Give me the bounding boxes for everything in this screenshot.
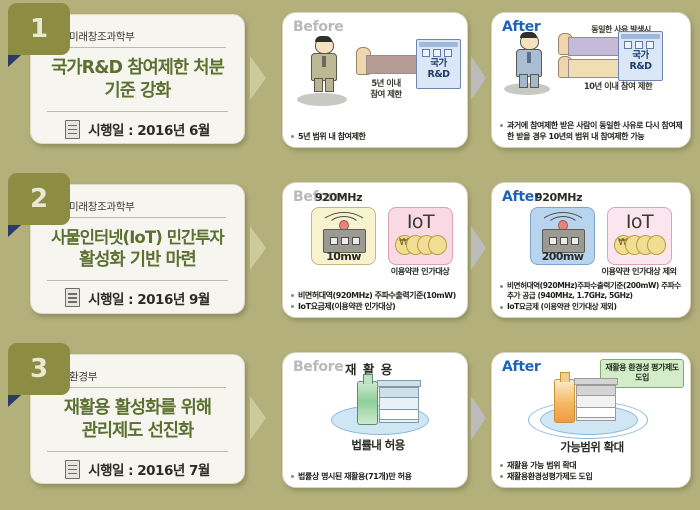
rnd-box-cap [621, 34, 660, 39]
plastic-bottle-icon [554, 379, 575, 423]
bullet-item: 비면허대역(920MHz)주파수출력기준(200mW) 주파수 추가 공급 (9… [499, 281, 685, 302]
document-icon [65, 120, 80, 139]
number-badge-2: 2 [8, 173, 70, 225]
policy-row-3: 3 환경부 재활용 활성화를 위해 관리제도 선진화 시행일 : 2016년 7… [0, 340, 700, 510]
effective-date-row-2: 시행일 : 2016년 9월 [41, 288, 234, 308]
before-caption-3: 법률내 허용 [328, 437, 428, 453]
effective-date-row-1: 시행일 : 2016년 6월 [41, 119, 234, 139]
can-band-bottom-icon [380, 409, 418, 420]
person-tie-icon [322, 56, 326, 67]
plastic-bottle-icon [357, 381, 378, 425]
bullet-item: 재활용환경성평가제도 도입 [499, 471, 685, 482]
rnd-box-line1: 국가 [632, 50, 648, 61]
title-divider-bottom-2 [47, 280, 228, 281]
after-bullets-2: 비면허대역(920MHz)주파수출력기준(200mW) 주파수 추가 공급 (9… [499, 281, 685, 312]
before-caption-line2-1: 참여 제한 [370, 89, 401, 99]
router-led-3 [352, 237, 360, 245]
person-leg-left-icon [314, 78, 323, 92]
before-illustration-1: 국가 R&D 5년 이내 참여 제한 [283, 33, 467, 115]
number-badge-1: 1 [8, 3, 70, 55]
chevron-right-icon-grey-1 [471, 56, 486, 100]
person-leg-right-icon [530, 74, 539, 88]
can-lid-icon [574, 378, 618, 385]
router-led-1 [330, 237, 338, 245]
policy-title-1: 국가R&D 참여제한 처분 기준 강화 [41, 57, 234, 103]
before-bullets-1: 5년 범위 내 참여제한 [290, 131, 462, 142]
router-icon-box-after: 200mw [530, 207, 595, 265]
before-caption-line1-1: 5년 이내 [371, 78, 400, 88]
effective-date-3: 시행일 : 2016년 7월 [88, 459, 210, 479]
bullet-item: 5년 범위 내 참여제한 [290, 131, 462, 142]
policy-title-line1-1: 국가R&D 참여제한 처분 [41, 57, 234, 80]
rnd-box-line2: R&D [428, 69, 450, 80]
power-label-after-2: 200mw [531, 250, 594, 263]
before-panel-3[interactable]: Before 재 활 용 법률내 허용 법률상 명시된 재활용(71개)만 허용 [282, 352, 468, 488]
chevron-right-icon-olive-1 [250, 56, 266, 100]
router-icon-box-before: 10mw [311, 207, 376, 265]
iot-sub-after-2: 이용약관 인가대상 제외 [584, 265, 691, 277]
restriction-bar-upper [568, 37, 622, 56]
after-illustration-3: 재활용 환경성 평가제도 도입 가능범위 확대 [492, 357, 690, 457]
restriction-bar [366, 55, 420, 74]
after-panel-3[interactable]: After 재활용 환경성 평가제도 도입 가능범위 확대 재활용 가능 범위 … [491, 352, 691, 488]
person-shadow [297, 93, 347, 106]
before-panel-1[interactable]: Before 국가 R&D [282, 12, 468, 148]
policy-row-2: 2 미래창조과학부 사물인터넷(IoT) 민간투자 활성화 기반 마련 시행일 … [0, 170, 700, 340]
person-leg-left-icon [519, 74, 528, 88]
can-band-top-icon [380, 387, 418, 398]
rnd-box-dots [624, 41, 654, 49]
after-caption-bottom-1: 10년 이내 참여 제한 [558, 81, 678, 92]
power-label-before-2: 10mw [312, 250, 375, 263]
rnd-box-line2: R&D [630, 61, 652, 72]
router-led-2 [560, 237, 568, 245]
bullet-item: IoT요금제(이용약관 인가대상) [290, 301, 462, 312]
can-band-top-icon [577, 385, 615, 396]
before-illustration-3: 재 활 용 법률내 허용 [283, 357, 467, 457]
after-illustration-2: 920MHz 200mw IoT [492, 191, 690, 281]
before-bullets-2: 비면허대역(920MHz) 주파수출력기준(10mW) IoT요금제(이용약관 … [290, 290, 462, 312]
after-bullets-1: 과거에 참여제한 받은 사람이 동일한 사유로 다시 참여제한 받을 경우 10… [499, 120, 685, 142]
chevron-right-icon-olive-2 [250, 226, 266, 270]
chevron-right-icon-olive-3 [250, 396, 266, 440]
coin-icon-4 [428, 235, 447, 255]
restriction-bar-lower [568, 59, 622, 78]
rnd-box-text: 국가 R&D [417, 59, 460, 80]
bullet-item: 과거에 참여제한 받은 사람이 동일한 사유로 다시 참여제한 받을 경우 10… [499, 120, 685, 142]
router-led-1 [549, 237, 557, 245]
effective-date-row-3: 시행일 : 2016년 7월 [41, 459, 234, 479]
national-rnd-box: 국가 R&D [416, 39, 461, 89]
policy-title-2: 사물인터넷(IoT) 민간투자 활성화 기반 마련 [41, 227, 234, 272]
person-body-icon [516, 49, 542, 77]
policy-title-line2-2: 활성화 기반 마련 [41, 249, 234, 272]
national-rnd-box: 국가 R&D [618, 31, 663, 81]
router-led-3 [571, 237, 579, 245]
title-divider-bottom-3 [47, 451, 228, 452]
iot-text-before: IoT [389, 211, 452, 233]
bottle-neck-icon [560, 372, 570, 382]
document-icon [65, 460, 80, 479]
chevron-right-icon-grey-2 [471, 226, 486, 270]
policy-title-3: 재활용 활성화를 위해 관리제도 선진화 [41, 397, 234, 443]
bullet-item: 법률상 명시된 재활용(71개)만 허용 [290, 471, 462, 482]
person-hair-icon [315, 36, 332, 42]
can-band-bottom-icon [577, 407, 615, 418]
frequency-label-after-2: 920MHz [535, 191, 582, 204]
metal-can-icon [379, 383, 419, 423]
number-badge-3: 3 [8, 343, 70, 395]
before-caption-1: 5년 이내 참여 제한 [357, 78, 415, 99]
iot-icon-box-before: IoT [388, 207, 453, 265]
bullet-item: IoT요금제 (이용약관 인가대상 제외) [499, 302, 685, 312]
policy-row-1: 1 미래창조과학부 국가R&D 참여제한 처분 기준 강화 시행일 : 2016… [0, 0, 700, 170]
policy-title-line2-1: 기준 강화 [41, 80, 234, 103]
rnd-box-text: 국가 R&D [619, 51, 662, 72]
frequency-label-before-2: 920MHz [315, 191, 362, 204]
coin-icon-4 [647, 235, 666, 255]
title-divider-top-1 [49, 47, 226, 48]
ministry-label-2: 미래창조과학부 [69, 199, 234, 214]
title-divider-bottom-1 [47, 111, 228, 112]
router-led-2 [341, 237, 349, 245]
metal-can-icon [576, 381, 616, 421]
title-divider-top-3 [49, 387, 226, 388]
person-hair-icon [520, 32, 537, 38]
policy-title-line1-2: 사물인터넷(IoT) 민간투자 [41, 227, 234, 249]
effective-date-2: 시행일 : 2016년 9월 [88, 288, 210, 308]
after-panel-1[interactable]: After 동일한 사유 발생시 국가 R [491, 12, 691, 148]
chevron-right-icon-grey-3 [471, 396, 486, 440]
policy-title-line2-3: 관리제도 선진화 [41, 420, 234, 443]
before-bullets-3: 법률상 명시된 재활용(71개)만 허용 [290, 471, 462, 482]
effective-date-1: 시행일 : 2016년 6월 [88, 119, 210, 139]
after-illustration-1: 동일한 사유 발생시 국가 R&D [492, 25, 690, 97]
person-tie-icon [527, 52, 531, 63]
bottle-neck-icon [363, 374, 373, 384]
document-icon [65, 288, 80, 307]
before-illustration-2: 920MHz 10mw IoT [283, 191, 467, 281]
after-bullets-3: 재활용 가능 범위 확대 재활용환경성평가제도 도입 [499, 460, 685, 482]
can-lid-icon [377, 380, 421, 387]
iot-sub-before-2: 이용약관 인가대상 [372, 265, 468, 277]
after-panel-2[interactable]: After 920MHz 200mw IoT [491, 182, 691, 318]
policy-title-line1-3: 재활용 활성화를 위해 [41, 397, 234, 420]
title-divider-top-2 [49, 217, 226, 218]
after-caption-3: 가능범위 확대 [540, 439, 644, 455]
person-leg-right-icon [325, 78, 334, 92]
person-body-icon [311, 53, 337, 81]
iot-text-after: IoT [608, 211, 671, 233]
iot-icon-box-after: IoT [607, 207, 672, 265]
rnd-box-cap [419, 42, 458, 47]
ministry-label-3: 환경부 [69, 369, 234, 384]
before-panel-2[interactable]: Before 920MHz 10mw IoT [282, 182, 468, 318]
rnd-box-dots [422, 49, 452, 57]
rnd-box-line1: 국가 [430, 58, 446, 69]
ministry-label-1: 미래창조과학부 [69, 29, 234, 44]
bullet-item: 비면허대역(920MHz) 주파수출력기준(10mW) [290, 290, 462, 301]
bullet-item: 재활용 가능 범위 확대 [499, 460, 685, 471]
